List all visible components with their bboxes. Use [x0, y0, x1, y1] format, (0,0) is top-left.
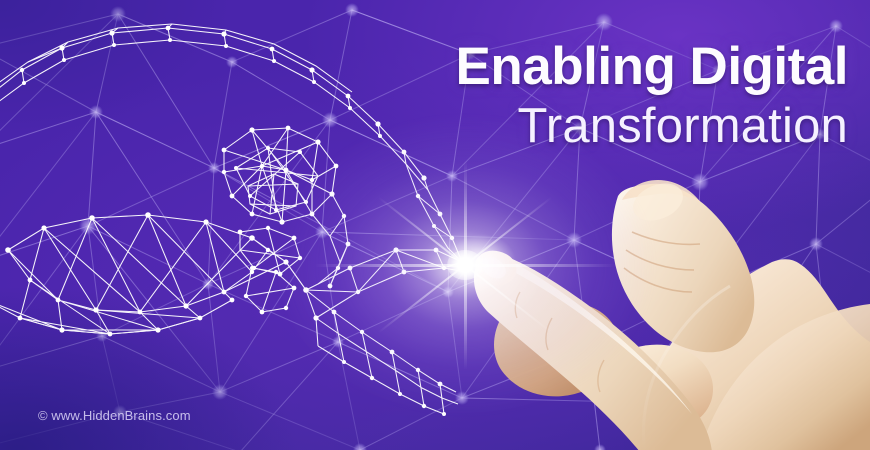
headline-line-1: Enabling Digital: [456, 40, 848, 93]
banner-image: Enabling Digital Transformation © www.Hi…: [0, 0, 870, 450]
headline-block: Enabling Digital Transformation: [456, 40, 848, 151]
headline-line-2: Transformation: [456, 102, 848, 151]
watermark-credit: © www.HiddenBrains.com: [38, 408, 191, 423]
